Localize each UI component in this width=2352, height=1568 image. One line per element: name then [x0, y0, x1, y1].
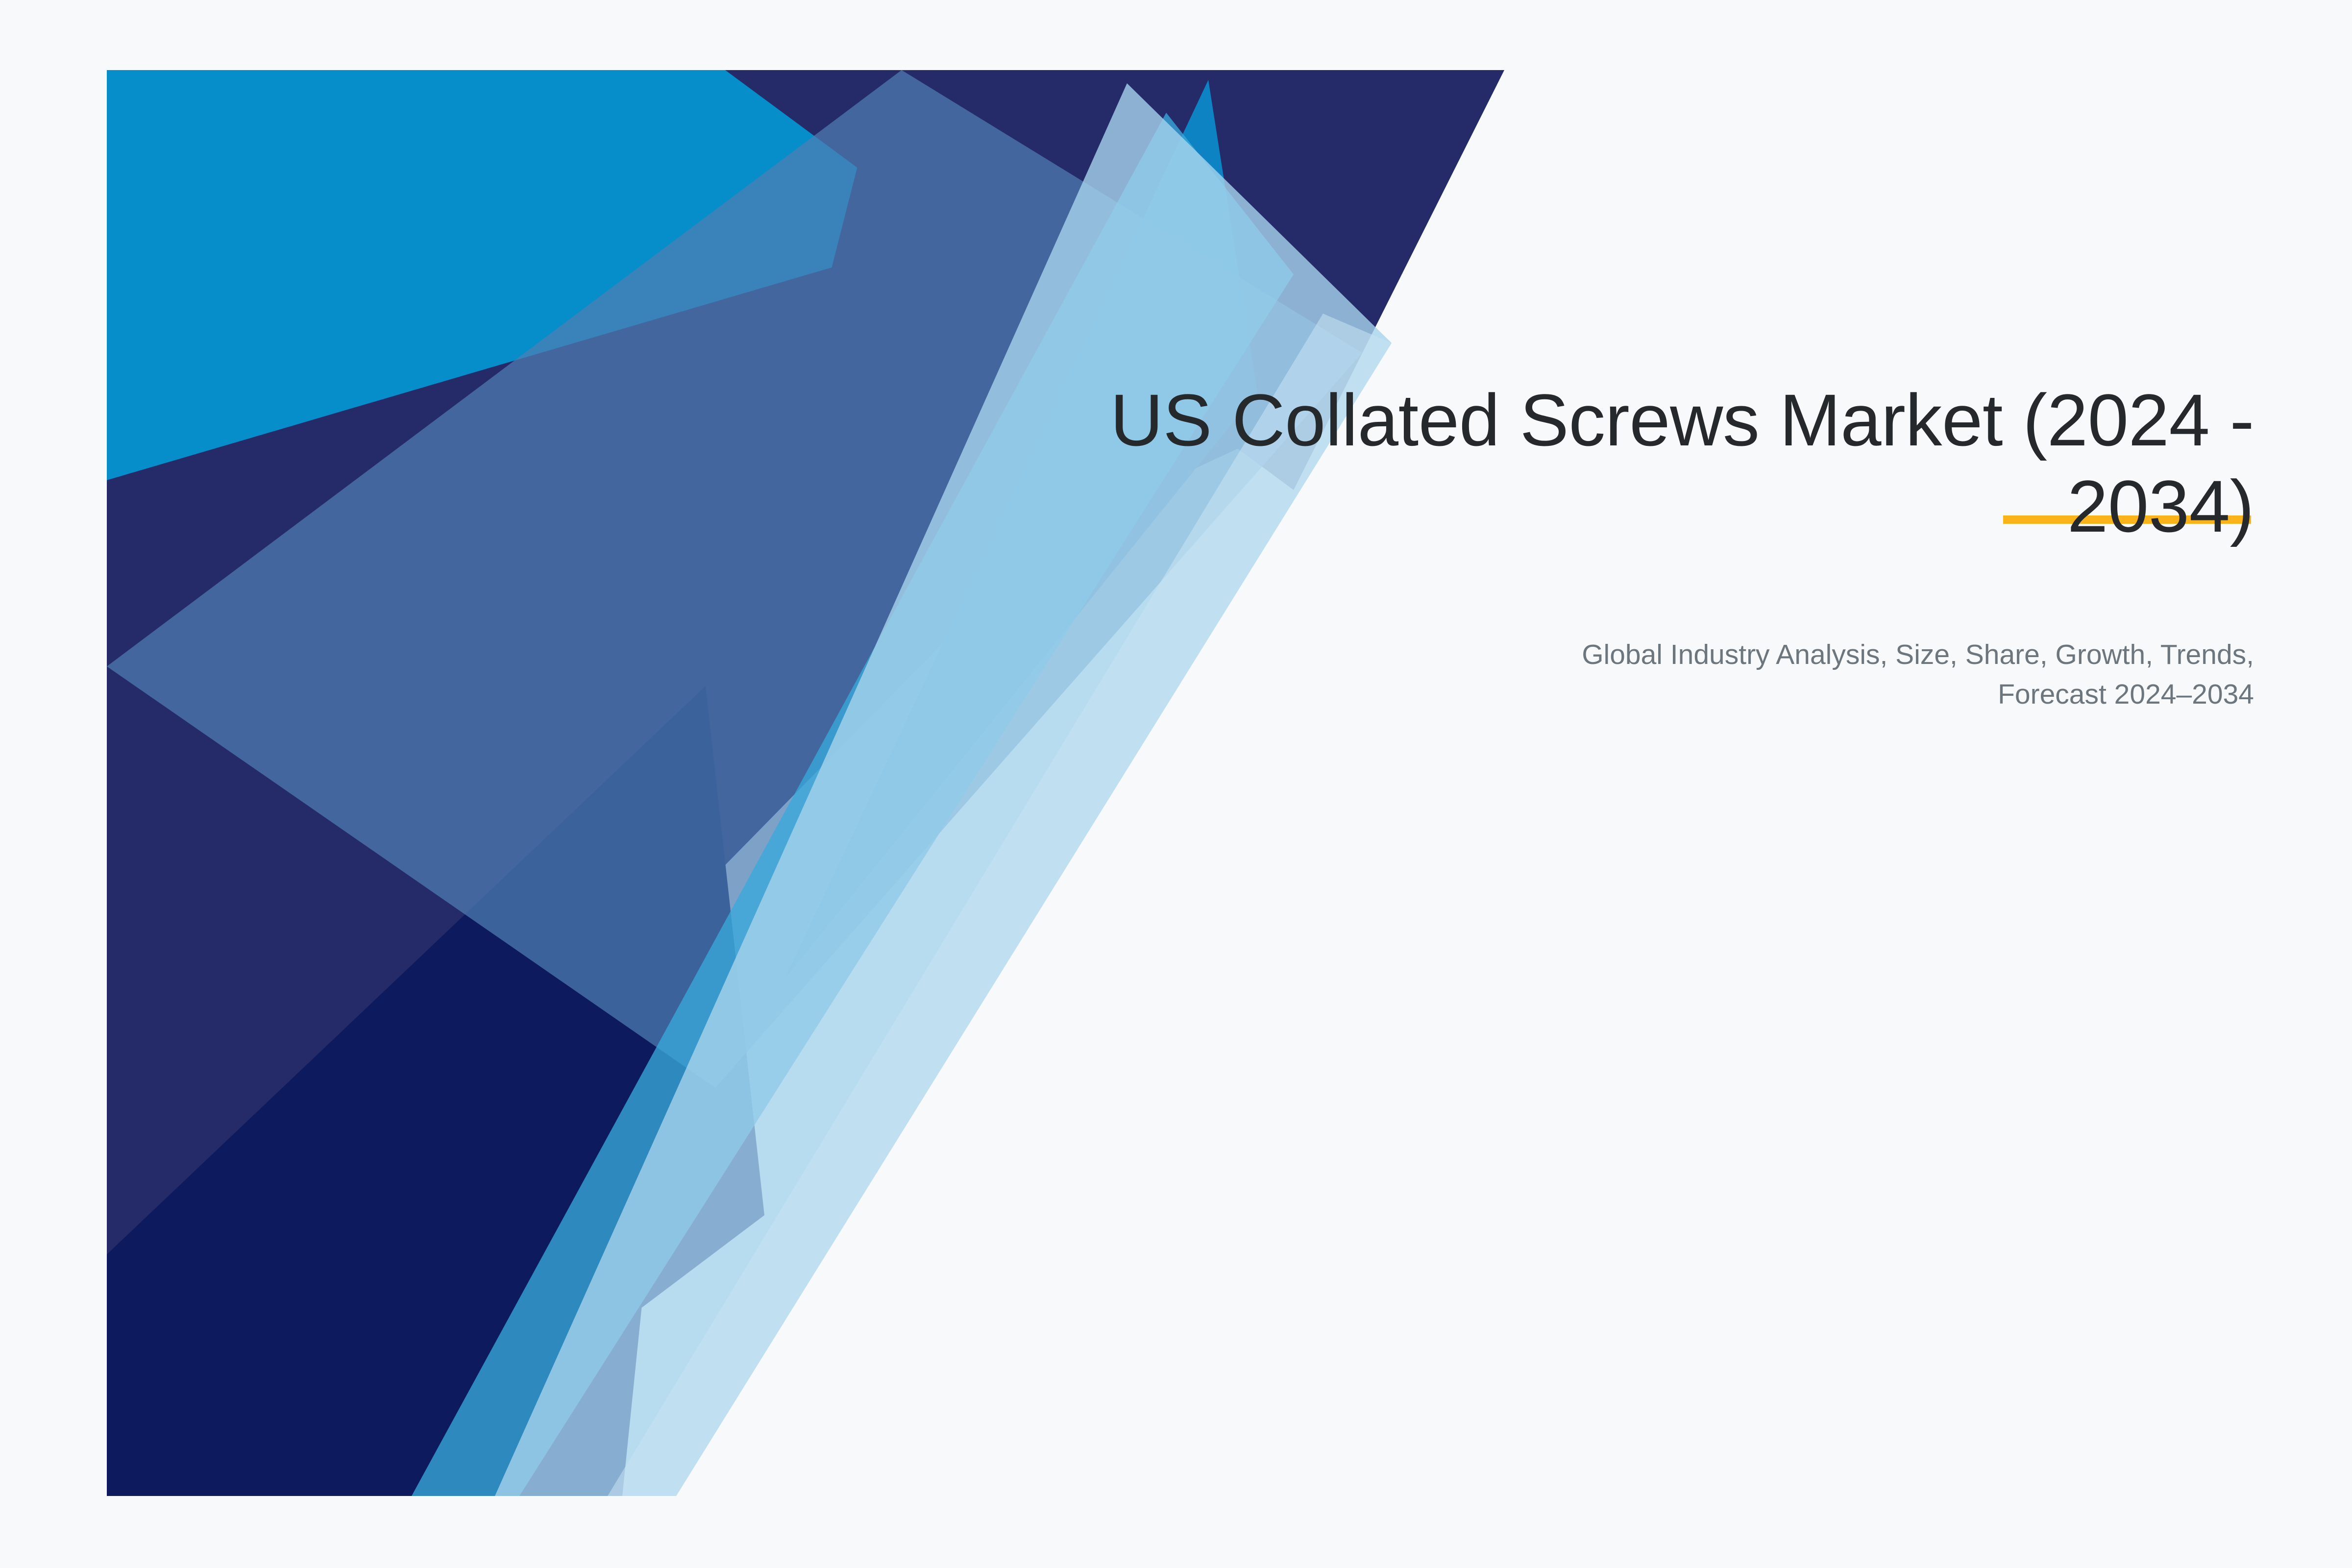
abstract-geometric-artwork — [0, 0, 2352, 1568]
artwork-deep-navy-wedge-right — [392, 686, 706, 1496]
artwork-pale-quad — [495, 83, 1392, 1496]
artwork-cyan-base — [107, 70, 1504, 1496]
title-text-block: US Collated Screws Market (2024 - 2034) … — [931, 377, 2254, 714]
page-subtitle: Global Industry Analysis, Size, Share, G… — [931, 635, 2254, 714]
artwork-navy-field — [107, 70, 1504, 1496]
artwork-sky-band — [412, 113, 1294, 1496]
artwork-navy-diagonal-band — [107, 70, 1504, 1496]
slide-canvas: US Collated Screws Market (2024 - 2034) … — [0, 0, 2352, 1568]
page-title: US Collated Screws Market (2024 - 2034) — [931, 377, 2254, 549]
artwork-deep-navy-wedge — [107, 686, 764, 1496]
